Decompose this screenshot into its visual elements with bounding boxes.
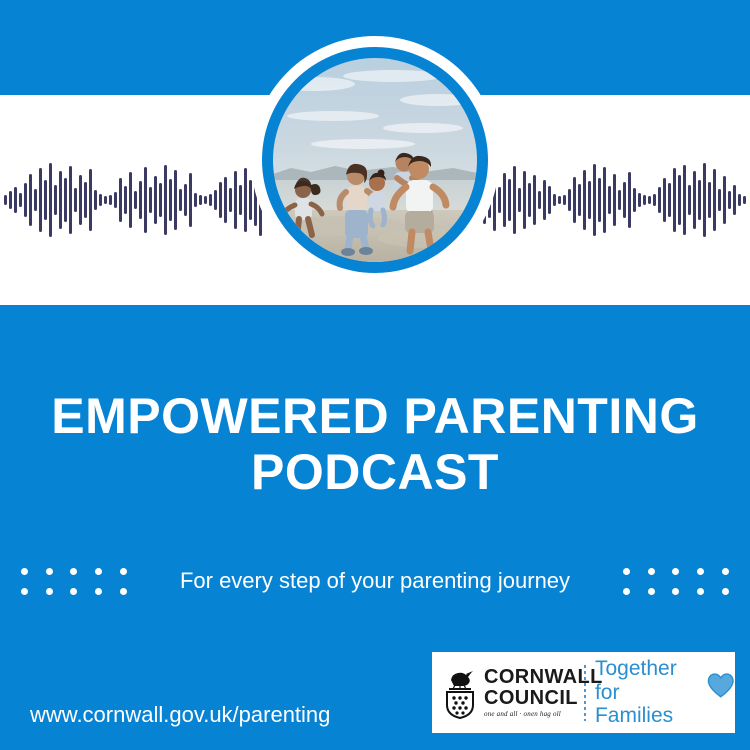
waveform-bar xyxy=(543,180,546,220)
website-url[interactable]: www.cornwall.gov.uk/parenting xyxy=(30,702,330,728)
waveform-bar xyxy=(573,177,576,223)
waveform-bar xyxy=(698,180,701,220)
grid-dot xyxy=(648,588,655,595)
page-title: EMPOWERED PARENTING PODCAST xyxy=(0,388,750,500)
waveform-bar xyxy=(184,184,187,216)
waveform-bar xyxy=(199,195,202,205)
waveform-bar xyxy=(169,179,172,221)
waveform-bar xyxy=(64,178,67,222)
waveform-bar xyxy=(628,172,631,228)
waveform-bar xyxy=(643,195,646,205)
waveform-bar xyxy=(538,191,541,209)
waveform-bar xyxy=(723,176,726,224)
waveform-bar xyxy=(229,188,232,212)
waveform-bar xyxy=(154,176,157,224)
waveform-bar xyxy=(548,186,551,214)
grid-dot xyxy=(697,568,704,575)
waveform-bar xyxy=(663,178,666,222)
waveform-bar xyxy=(718,189,721,211)
waveform-bar xyxy=(553,194,556,206)
waveform-bar xyxy=(174,170,177,230)
tagline-row: For every step of your parenting journey xyxy=(0,552,750,610)
waveform-bar xyxy=(523,171,526,229)
waveform-bar xyxy=(159,183,162,217)
grid-dot xyxy=(623,588,630,595)
waveform-bar xyxy=(598,178,601,222)
waveform-bar xyxy=(14,187,17,213)
waveform-bar xyxy=(703,163,706,237)
waveform-bar xyxy=(244,168,247,232)
podcast-poster: EMPOWERED PARENTING PODCAST For every st… xyxy=(0,0,750,750)
waveform-bar xyxy=(578,184,581,216)
waveform-bar xyxy=(69,166,72,234)
waveform-bar xyxy=(49,163,52,237)
waveform-bar xyxy=(733,185,736,215)
waveform-bar xyxy=(34,189,37,211)
waveform-bar xyxy=(708,182,711,218)
waveform-bar xyxy=(668,183,671,217)
waveform-bar xyxy=(618,190,621,210)
waveform-bar xyxy=(84,182,87,218)
waveform-bar xyxy=(24,183,27,217)
waveform-bar xyxy=(508,179,511,221)
waveform-bar xyxy=(713,169,716,231)
waveform-bar xyxy=(239,185,242,215)
waveform-bar xyxy=(658,187,661,213)
grid-dot xyxy=(722,568,729,575)
waveform-bar xyxy=(9,191,12,209)
waveform-bar xyxy=(59,171,62,229)
waveform-bar xyxy=(583,170,586,230)
waveform-bar xyxy=(164,165,167,235)
waveform-bar xyxy=(503,173,506,227)
waveform-bar xyxy=(533,175,536,225)
waveform-bar xyxy=(179,189,182,211)
waveform-bar xyxy=(124,186,127,214)
grid-dot xyxy=(697,588,704,595)
waveform-bar xyxy=(89,169,92,231)
together-for-families-logo: Together for Families xyxy=(595,657,735,728)
waveform-bar xyxy=(144,167,147,233)
waveform-bar xyxy=(648,196,651,204)
chough-and-shield-crest-icon xyxy=(442,667,478,719)
waveform-bar xyxy=(39,168,42,232)
waveform-bar xyxy=(528,183,531,217)
grid-dot xyxy=(722,588,729,595)
heart-icon xyxy=(706,671,735,699)
waveform-bar xyxy=(19,193,22,207)
together-line-2: for Families xyxy=(595,681,702,728)
grid-dot xyxy=(648,568,655,575)
grid-dot xyxy=(672,568,679,575)
waveform-bar xyxy=(129,172,132,228)
waveform-bar xyxy=(139,181,142,219)
waveform-bar xyxy=(234,171,237,229)
waveform-bar xyxy=(513,166,516,234)
waveform-bar xyxy=(44,180,47,220)
waveform-bar xyxy=(104,196,107,204)
waveform-bar xyxy=(149,187,152,213)
logo-divider xyxy=(584,665,586,721)
waveform-bar xyxy=(563,195,566,205)
waveform-bar xyxy=(224,177,227,223)
waveform-bar xyxy=(134,191,137,209)
waveform-bar xyxy=(693,171,696,229)
waveform-bar xyxy=(79,175,82,225)
waveform-bar xyxy=(4,195,7,205)
waveform-bar xyxy=(119,178,122,222)
waveform-bar xyxy=(688,185,691,215)
waveform-bar xyxy=(518,188,521,212)
waveform-bar xyxy=(683,165,686,235)
waveform-bar xyxy=(738,194,741,206)
together-line-1: Together xyxy=(595,657,702,681)
title-line-2: PODCAST xyxy=(0,444,750,500)
waveform-bar xyxy=(194,193,197,207)
waveform-bar xyxy=(74,188,77,212)
waveform-bar xyxy=(653,194,656,206)
cornwall-council-logo: CORNWALL COUNCIL one and all · onen hag … xyxy=(432,667,580,719)
waveform-bar xyxy=(623,182,626,218)
waveform-right xyxy=(463,95,746,305)
waveform-bar xyxy=(638,193,641,207)
grid-dot xyxy=(672,588,679,595)
waveform-bar xyxy=(558,196,561,204)
waveform-bar xyxy=(743,196,746,204)
waveform-bar xyxy=(204,196,207,204)
waveform-bar xyxy=(94,190,97,210)
waveform-bar xyxy=(728,191,731,209)
waveform-bar xyxy=(109,195,112,205)
hero-circle xyxy=(251,36,499,284)
waveform-bar xyxy=(214,190,217,210)
waveform-bar xyxy=(603,167,606,233)
title-line-1: EMPOWERED PARENTING xyxy=(0,388,750,444)
waveform-bar xyxy=(219,182,222,218)
waveform-bar xyxy=(99,194,102,206)
grid-dot xyxy=(623,568,630,575)
waveform-bar xyxy=(114,192,117,208)
waveform-bar xyxy=(209,194,212,206)
waveform-bar xyxy=(608,186,611,214)
dot-grid-right xyxy=(614,561,738,601)
waveform-bar xyxy=(568,189,571,211)
waveform-bar xyxy=(54,185,57,215)
hero-photo xyxy=(273,58,477,262)
waveform-bar xyxy=(189,173,192,227)
logo-card: CORNWALL COUNCIL one and all · onen hag … xyxy=(432,652,735,733)
waveform-bar xyxy=(588,181,591,219)
waveform-bar xyxy=(613,174,616,226)
waveform-bar xyxy=(678,175,681,225)
waveform-bar xyxy=(29,174,32,226)
waveform-bar xyxy=(673,168,676,232)
waveform-bar xyxy=(633,188,636,212)
waveform-bar xyxy=(593,164,596,236)
